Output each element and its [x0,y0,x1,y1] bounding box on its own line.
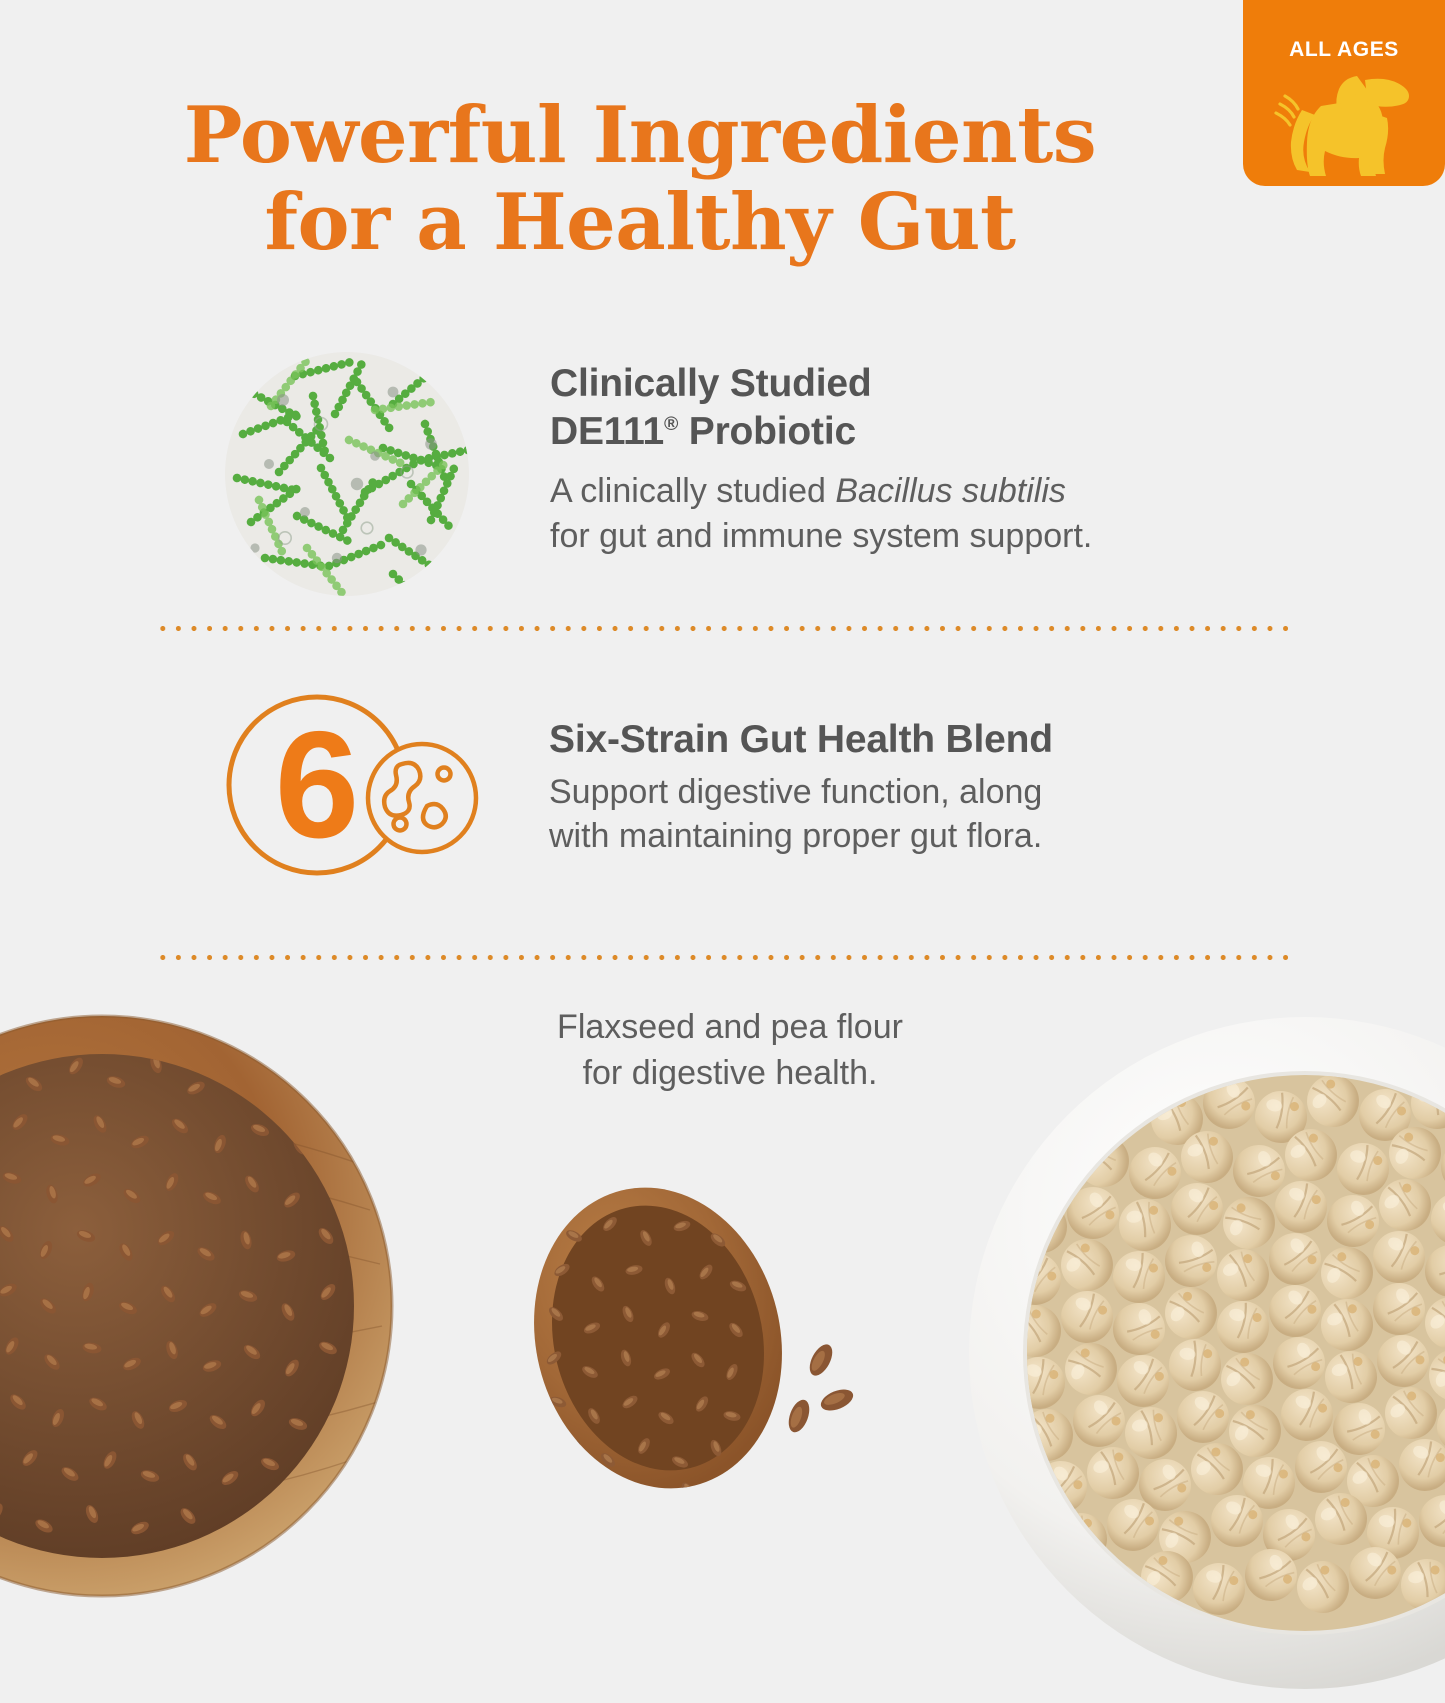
bacteria-microscopy-icon [225,352,469,596]
loose-flax-seeds [775,1340,865,1445]
all-ages-badge: ALL AGES [1243,0,1445,186]
flaxseed-caption-line-1: Flaxseed and pea flour [430,1005,1030,1051]
feature-2-body-line-1: Support digestive function, along [549,770,1053,815]
de111-text: DE111 [550,410,664,453]
six-strain-icon: 6 [222,690,484,885]
feature-1-body-line-2: for gut and immune system support. [550,514,1092,559]
registered-mark: ® [664,413,678,435]
feature-2-text: Six-Strain Gut Health Blend Support dige… [549,716,1053,859]
six-number: 6 [275,700,360,870]
wooden-bowl-of-flaxseed [0,1004,405,1609]
feature-six-strain-blend: 6 Six-Strain Gut Health Blend Support di… [222,690,1053,885]
all-ages-label: ALL AGES [1243,38,1445,62]
feature-1-title-line-2: DE111® Probiotic [550,408,1092,456]
headline-line-1: Powerful Ingredients [184,90,1096,181]
headline-line-2: for a Healthy Gut [110,179,1170,266]
body-pre-text: A clinically studied [550,472,835,510]
probiotic-text: Probiotic [678,410,856,453]
flaxseed-caption-line-2: for digestive health. [430,1051,1030,1097]
white-bowl-of-chickpeas [955,1003,1445,1703]
six-circle-microbe-icon: 6 [222,690,484,880]
dotted-divider-2 [155,953,1291,962]
feature-2-body-line-2: with maintaining proper gut flora. [549,814,1053,859]
feature-2-body: Support digestive function, along with m… [549,770,1053,860]
bacillus-subtilis-italic: Bacillus subtilis [835,472,1066,510]
feature-1-body: A clinically studied Bacillus subtilis f… [550,469,1092,559]
page-headline: Powerful Ingredients for a Healthy Gut [110,92,1170,267]
dotted-divider-1 [155,624,1291,633]
feature-1-title-line-1: Clinically Studied [550,360,1092,408]
feature-clinically-studied: Clinically Studied DE111® Probiotic A cl… [225,352,1092,596]
feature-1-title: Clinically Studied DE111® Probiotic [550,360,1092,455]
feature-1-body-line-1: A clinically studied Bacillus subtilis [550,469,1092,514]
bacteria-chains-illustration [225,352,469,596]
feature-2-title: Six-Strain Gut Health Blend [549,716,1053,764]
flaxseed-caption: Flaxseed and pea flour for digestive hea… [430,1005,1030,1097]
sitting-dog-icon [1261,62,1431,180]
feature-1-text: Clinically Studied DE111® Probiotic A cl… [550,360,1092,559]
